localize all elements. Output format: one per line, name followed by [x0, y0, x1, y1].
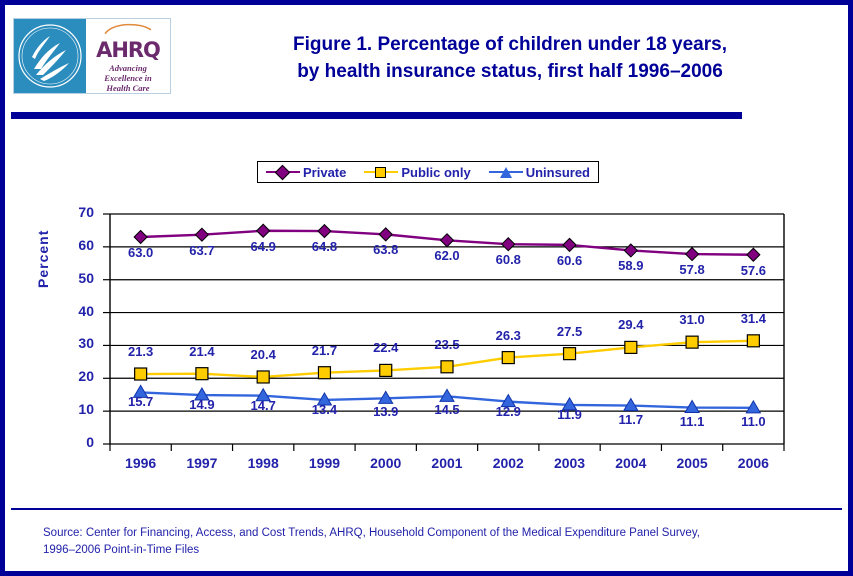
- x-tick-label: 2002: [478, 455, 538, 471]
- y-tick-label: 30: [62, 335, 94, 351]
- marker-diamond-icon: [134, 231, 147, 244]
- marker-diamond-icon: [624, 244, 637, 257]
- data-point-label: 14.9: [179, 397, 225, 412]
- data-point-label: 64.9: [240, 239, 286, 254]
- marker-square-icon: [135, 368, 147, 380]
- marker-square-icon: [318, 367, 330, 379]
- x-tick-label: 2003: [540, 455, 600, 471]
- source-divider: [11, 508, 842, 510]
- data-point-label: 12.9: [485, 404, 531, 419]
- marker-square-icon: [747, 335, 759, 347]
- data-point-label: 58.9: [608, 258, 654, 273]
- y-tick-label: 10: [62, 401, 94, 417]
- x-tick-label: 2001: [417, 455, 477, 471]
- data-point-label: 20.4: [240, 347, 286, 362]
- data-point-label: 13.4: [301, 402, 347, 417]
- data-point-label: 29.4: [608, 317, 654, 332]
- data-point-label: 11.9: [547, 407, 593, 422]
- marker-diamond-icon: [747, 248, 760, 261]
- data-point-label: 11.0: [730, 414, 776, 429]
- marker-square-icon: [441, 361, 453, 373]
- y-tick-label: 40: [62, 303, 94, 319]
- data-point-label: 15.7: [118, 394, 164, 409]
- y-tick-label: 0: [62, 434, 94, 450]
- y-tick-label: 70: [62, 204, 94, 220]
- data-point-label: 11.1: [669, 414, 715, 429]
- figure-page: AHRQ Advancing Excellence in Health Care…: [0, 0, 853, 576]
- data-point-label: 60.6: [547, 253, 593, 268]
- x-tick-label: 2006: [723, 455, 783, 471]
- marker-diamond-icon: [502, 238, 515, 251]
- x-tick-label: 1998: [233, 455, 293, 471]
- x-tick-label: 1996: [111, 455, 171, 471]
- marker-square-icon: [686, 336, 698, 348]
- data-point-label: 22.4: [363, 340, 409, 355]
- data-point-label: 14.7: [240, 398, 286, 413]
- data-point-label: 64.8: [301, 239, 347, 254]
- source-note-line1: Source: Center for Financing, Access, an…: [43, 525, 823, 542]
- data-point-label: 21.4: [179, 344, 225, 359]
- marker-diamond-icon: [563, 238, 576, 251]
- marker-diamond-icon: [257, 224, 270, 237]
- marker-square-icon: [625, 341, 637, 353]
- chart-plot-area: Percent 01020304050607019961997199819992…: [5, 5, 848, 571]
- marker-square-icon: [502, 352, 514, 364]
- marker-diamond-icon: [318, 225, 331, 238]
- data-point-label: 63.8: [363, 242, 409, 257]
- marker-diamond-icon: [379, 228, 392, 241]
- marker-diamond-icon: [195, 228, 208, 241]
- marker-diamond-icon: [686, 248, 699, 261]
- data-point-label: 31.0: [669, 312, 715, 327]
- source-note-line2: 1996–2006 Point-in-Time Files: [43, 542, 823, 559]
- x-tick-label: 1997: [172, 455, 232, 471]
- marker-diamond-icon: [441, 234, 454, 247]
- data-point-label: 60.8: [485, 252, 531, 267]
- data-point-label: 13.9: [363, 404, 409, 419]
- y-tick-label: 20: [62, 368, 94, 384]
- marker-square-icon: [380, 364, 392, 376]
- data-point-label: 27.5: [547, 324, 593, 339]
- x-tick-label: 1999: [294, 455, 354, 471]
- data-point-label: 63.0: [118, 245, 164, 260]
- marker-square-icon: [257, 371, 269, 383]
- x-tick-label: 2004: [601, 455, 661, 471]
- data-point-label: 14.5: [424, 402, 470, 417]
- marker-square-icon: [196, 368, 208, 380]
- marker-square-icon: [564, 348, 576, 360]
- data-point-label: 21.7: [301, 343, 347, 358]
- x-tick-label: 2000: [356, 455, 416, 471]
- x-tick-label: 2005: [662, 455, 722, 471]
- data-point-label: 57.6: [730, 263, 776, 278]
- data-point-label: 11.7: [608, 412, 654, 427]
- data-point-label: 26.3: [485, 328, 531, 343]
- data-point-label: 21.3: [118, 344, 164, 359]
- data-point-label: 63.7: [179, 243, 225, 258]
- data-point-label: 62.0: [424, 248, 470, 263]
- y-tick-label: 60: [62, 237, 94, 253]
- y-tick-label: 50: [62, 270, 94, 286]
- source-note: Source: Center for Financing, Access, an…: [43, 525, 823, 559]
- data-point-label: 31.4: [730, 311, 776, 326]
- data-point-label: 57.8: [669, 262, 715, 277]
- data-point-label: 23.5: [424, 337, 470, 352]
